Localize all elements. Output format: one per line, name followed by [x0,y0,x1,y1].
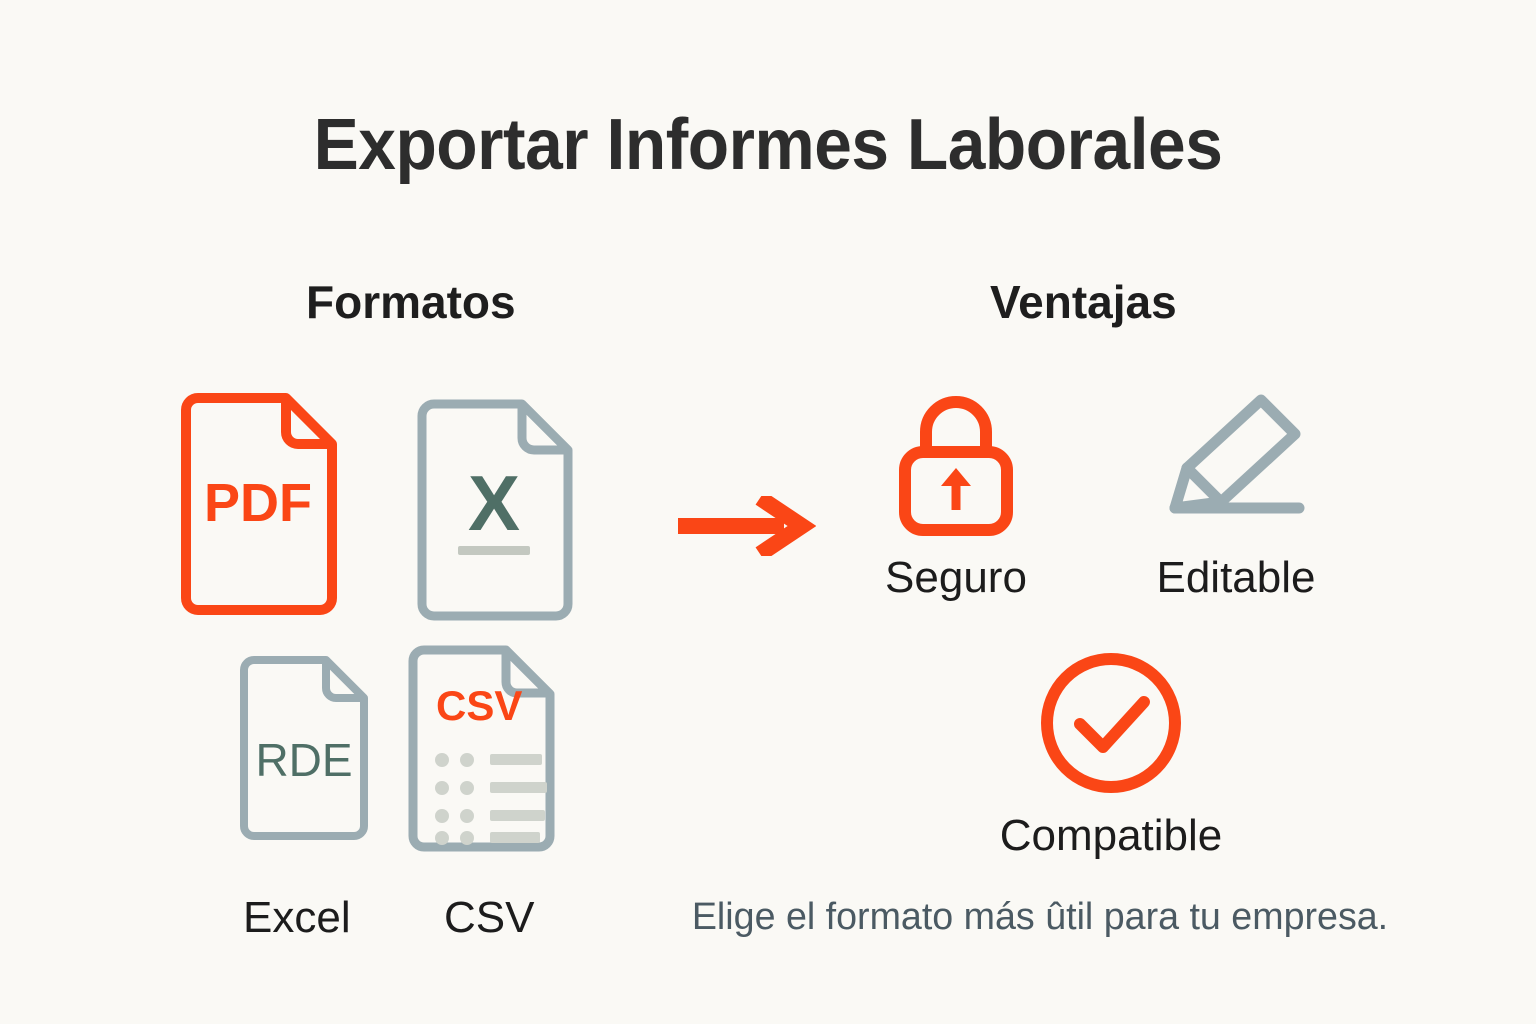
format-label-excel: Excel [243,893,351,943]
csv-row-lines [435,753,547,845]
check-circle-icon [978,648,1244,798]
excel-badge-text: X [468,459,520,547]
csv-file-icon[interactable]: CSV [402,648,562,848]
advantages-column-header: Ventajas [990,275,1177,329]
pdf-badge-text: PDF [204,473,312,533]
arrow-right-icon [676,496,816,556]
rde-file-icon[interactable]: RDE [234,658,374,838]
rde-badge-text: RDE [255,734,352,786]
csv-badge-text: CSV [436,682,522,729]
advantage-label-compatible: Compatible [978,814,1244,858]
footer-caption: Elige el formato más ûtil para tu empres… [664,896,1416,939]
excel-file-icon[interactable]: X [408,402,580,618]
pdf-file-icon[interactable]: PDF [172,396,344,612]
advantage-label-seguro: Seguro [838,556,1074,600]
advantage-compatible[interactable]: Compatible [978,648,1244,858]
formats-column-header: Formatos [306,275,516,329]
page-title: Exportar Informes Laborales [46,104,1490,186]
lock-icon [838,390,1074,540]
advantage-editable[interactable]: Editable [1118,390,1354,600]
advantage-label-editable: Editable [1118,556,1354,600]
pencil-icon [1118,390,1354,540]
excel-underline-bar [458,546,530,555]
format-label-csv: CSV [444,893,534,943]
formats-grid: PDF X RDE CSV [172,396,592,866]
advantage-seguro[interactable]: Seguro [838,390,1074,600]
